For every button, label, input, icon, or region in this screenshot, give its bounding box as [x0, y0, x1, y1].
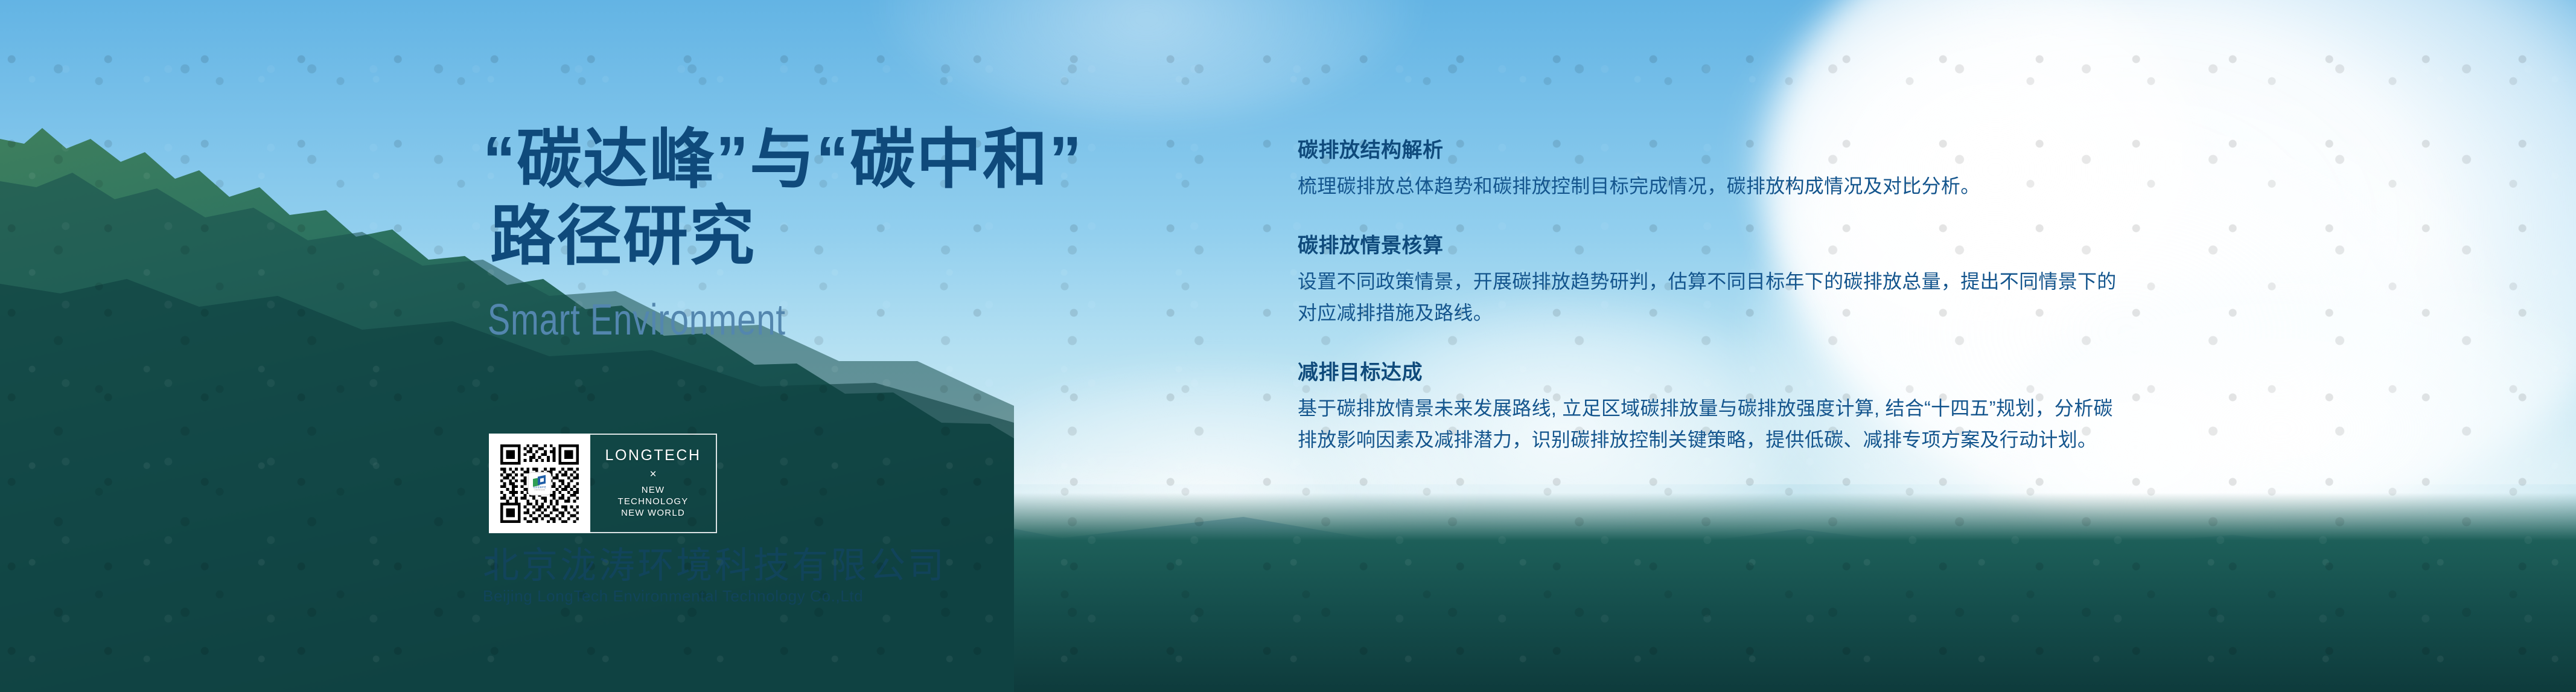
- longtech-logo-icon: 北京泷涛环境 LONGTECH ENV: [529, 473, 550, 495]
- feature-body-3: 基于碳排放情景未来发展路线, 立足区域碳排放量与碳排放强度计算, 结合“十四五”…: [1298, 393, 2131, 456]
- carbon-peak-banner: “碳达峰”与“碳中和” 路径研究 Smart Environment: [0, 0, 2576, 692]
- headline-subtitle: Smart Environment: [483, 295, 1071, 345]
- feature-section-2: 碳排放情景核算 设置不同政策情景，开展碳排放趋势研判，估算不同目标年下的碳排放总…: [1298, 233, 2131, 328]
- features-column: 碳排放结构解析 梳理碳排放总体趋势和碳排放控制目标完成情况，碳排放构成情况及对比…: [1298, 138, 2131, 456]
- feature-section-1: 碳排放结构解析 梳理碳排放总体趋势和碳排放控制目标完成情况，碳排放构成情况及对比…: [1298, 138, 2131, 202]
- feature-body-1: 梳理碳排放总体趋势和碳排放控制目标完成情况，碳排放构成情况及对比分析。: [1298, 171, 2131, 202]
- watermark-cn: 北京泷涛环境科技有限公司: [483, 546, 946, 585]
- qr-code-container[interactable]: 北京泷涛环境 LONGTECH ENV: [489, 434, 590, 533]
- feature-heading-3: 减排目标达成: [1298, 360, 2131, 386]
- tagline-line-2: TECHNOLOGY: [617, 496, 688, 507]
- headline-block: “碳达峰”与“碳中和” 路径研究 Smart Environment: [483, 121, 1237, 345]
- logo-name-cn: 北京泷涛环境: [533, 487, 546, 489]
- feature-body-2: 设置不同政策情景，开展碳排放趋势研判，估算不同目标年下的碳排放总量，提出不同情景…: [1298, 266, 2131, 329]
- feature-heading-1: 碳排放结构解析: [1298, 138, 2131, 164]
- brand-name: LONGTECH: [605, 448, 701, 463]
- company-watermark: 北京泷涛环境科技有限公司 Beijing LongTech Environmen…: [483, 546, 946, 606]
- feature-section-3: 减排目标达成 基于碳排放情景未来发展路线, 立足区域碳排放量与碳排放强度计算, …: [1298, 360, 2131, 455]
- logo-name-en: LONGTECH ENV: [534, 490, 545, 491]
- feature-heading-2: 碳排放情景核算: [1298, 233, 2131, 259]
- watermark-en: Beijing LongTech Environmental Technolog…: [483, 587, 946, 606]
- cross-symbol-icon: ×: [649, 469, 656, 480]
- headline-line-2: 路径研究: [483, 197, 1237, 274]
- tagline-line-1: NEW: [617, 484, 688, 496]
- headline-line-1: “碳达峰”与“碳中和”: [483, 121, 1237, 197]
- logo-mark-icon: [533, 476, 546, 486]
- tagline: NEW TECHNOLOGY NEW WORLD: [617, 484, 688, 519]
- qr-code-icon[interactable]: 北京泷涛环境 LONGTECH ENV: [497, 441, 582, 526]
- qr-slogan-panel: LONGTECH × NEW TECHNOLOGY NEW WORLD: [590, 434, 717, 533]
- qr-promo-card[interactable]: 北京泷涛环境 LONGTECH ENV LONGTECH × NEW TECHN…: [489, 434, 717, 533]
- tagline-line-3: NEW WORLD: [617, 507, 688, 519]
